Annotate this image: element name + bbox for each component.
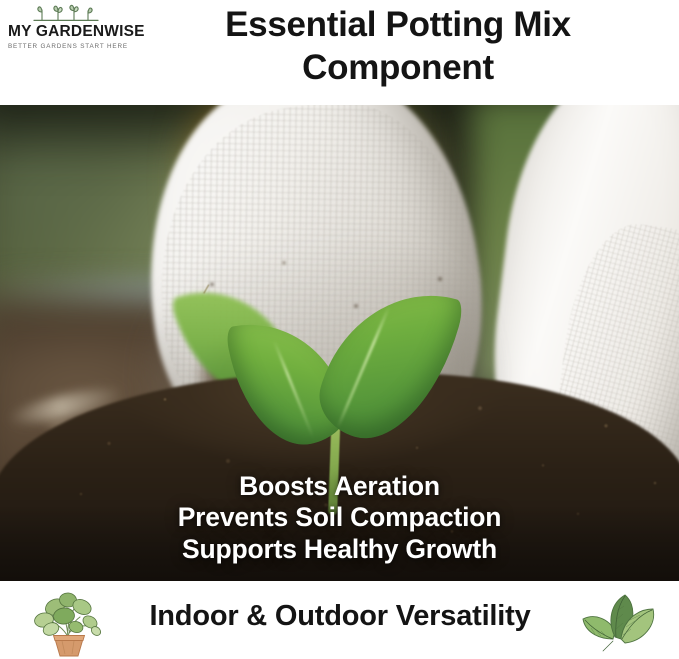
benefit-item-1: Boosts Aeration (0, 471, 679, 502)
header-bar: MY GARDENWISE BETTER GARDENS START HERE … (0, 0, 679, 105)
page-title-line-2: Component (128, 47, 668, 90)
benefit-item-3: Supports Healthy Growth (0, 534, 679, 565)
brand-tagline: BETTER GARDENS START HERE (8, 43, 123, 50)
hero-photo: Boosts Aeration Prevents Soil Compaction… (0, 105, 679, 581)
footer-title: Indoor & Outdoor Versatility (120, 600, 560, 633)
benefit-item-2: Prevents Soil Compaction (0, 502, 679, 533)
plant-sprouts-icon (30, 3, 102, 23)
infographic-root: MY GARDENWISE BETTER GARDENS START HERE … (0, 0, 679, 659)
benefits-overlay-text: Boosts Aeration Prevents Soil Compaction… (0, 471, 679, 565)
green-leaves-icon (567, 587, 671, 655)
brand-logo: MY GARDENWISE BETTER GARDENS START HERE (8, 3, 123, 50)
potted-houseplant-icon (24, 583, 116, 657)
footer-bar: Indoor & Outdoor Versatility (0, 581, 679, 659)
brand-name: MY GARDENWISE (8, 24, 123, 40)
page-title: Essential Potting Mix Component (128, 4, 668, 89)
page-title-line-1: Essential Potting Mix (128, 4, 668, 47)
